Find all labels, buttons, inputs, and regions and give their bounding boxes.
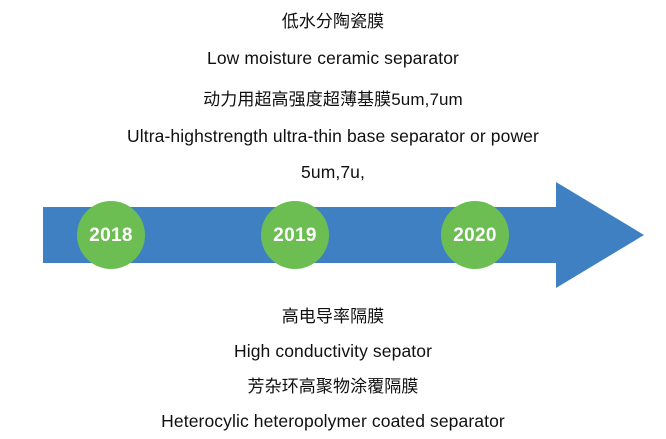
year-marker-2019[interactable]: 2019 xyxy=(261,201,329,269)
top-text-block: 低水分陶瓷膜 Low moisture ceramic separator 动力… xyxy=(0,4,666,190)
year-marker-label: 2020 xyxy=(453,226,496,245)
top-text-line-1: 低水分陶瓷膜 xyxy=(0,4,666,40)
year-marker-2020[interactable]: 2020 xyxy=(441,201,509,269)
bottom-text-line-1: 高电导率隔膜 xyxy=(0,299,666,334)
bottom-text-line-3: 芳杂环高聚物涂覆隔膜 xyxy=(0,369,666,404)
top-text-line-2: Low moisture ceramic separator xyxy=(0,40,666,76)
bottom-text-line-4: Heterocylic heteropolymer coated separat… xyxy=(0,404,666,439)
top-text-line-3: 动力用超高强度超薄基膜5um,7um xyxy=(0,82,666,118)
top-text-line-4: Ultra-highstrength ultra-thin base separ… xyxy=(0,118,666,154)
bottom-text-line-2: High conductivity sepator xyxy=(0,334,666,369)
timeline-slide: 低水分陶瓷膜 Low moisture ceramic separator 动力… xyxy=(0,0,666,439)
year-marker-label: 2019 xyxy=(273,226,316,245)
year-marker-label: 2018 xyxy=(89,226,132,245)
bottom-text-block: 高电导率隔膜 High conductivity sepator 芳杂环高聚物涂… xyxy=(0,299,666,439)
year-marker-2018[interactable]: 2018 xyxy=(77,201,145,269)
